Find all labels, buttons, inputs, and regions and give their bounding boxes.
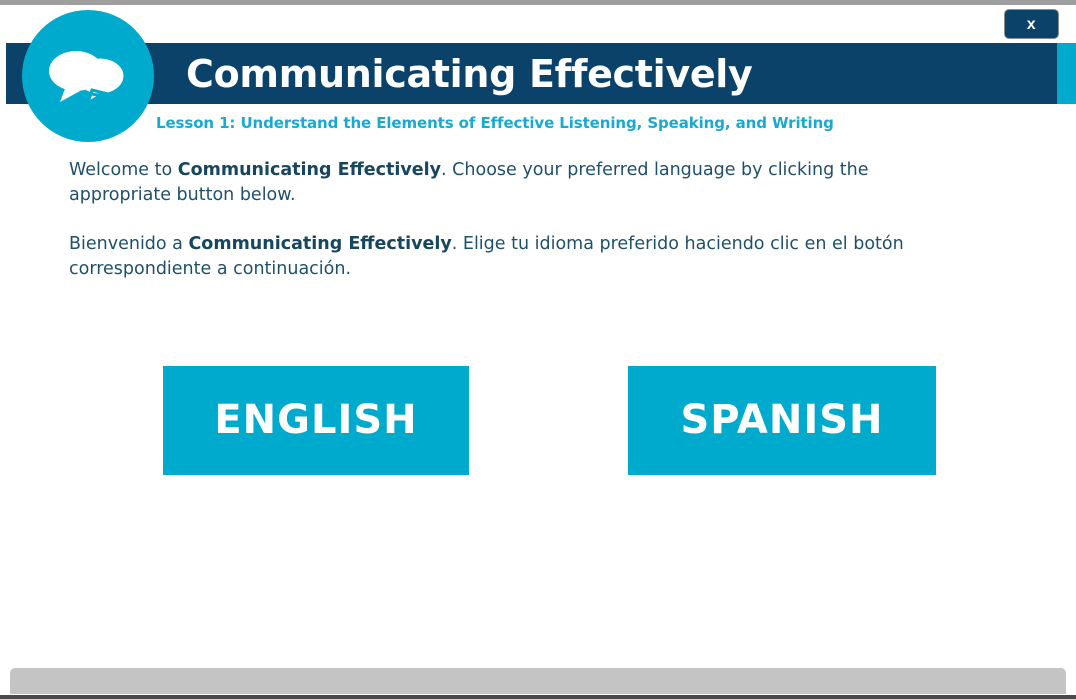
spanish-language-button[interactable]: SPANISH <box>628 366 936 475</box>
player-bottom-bar <box>10 668 1066 694</box>
paragraph-en-course-name: Communicating Effectively <box>178 160 441 180</box>
speech-bubbles-icon <box>22 10 154 142</box>
paragraph-en-before: Welcome to <box>69 160 178 180</box>
paragraph-es-course-name: Communicating Effectively <box>188 234 451 254</box>
paragraph-es-before: Bienvenido a <box>69 234 188 254</box>
window-top-chrome-strip <box>0 0 1076 5</box>
welcome-paragraph-spanish: Bienvenido a Communicating Effectively. … <box>69 232 974 282</box>
english-language-button[interactable]: ENGLISH <box>163 366 469 475</box>
welcome-paragraph-english: Welcome to Communicating Effectively. Ch… <box>69 158 974 208</box>
lesson-subtitle: Lesson 1: Understand the Elements of Eff… <box>156 114 834 132</box>
page-title: Communicating Effectively <box>186 48 753 100</box>
window-bottom-edge <box>0 695 1076 699</box>
lesson-player-window: x Communicating Effectively Lesson 1: Un… <box>0 0 1076 699</box>
close-button[interactable]: x <box>1004 9 1059 39</box>
header-accent-stripe <box>1057 43 1076 104</box>
